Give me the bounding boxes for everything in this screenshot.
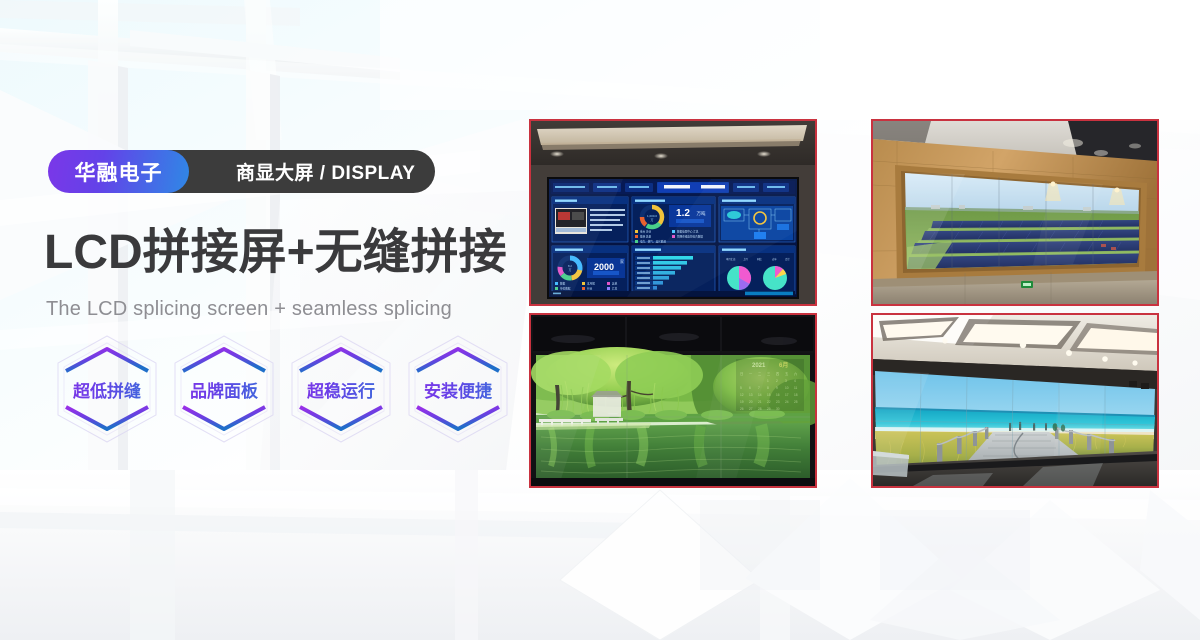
svg-text:合计: 合计 — [785, 257, 790, 261]
feature-badge-label-2: 超稳运行 — [286, 333, 396, 445]
feature-badge-2: 超稳运行 — [286, 333, 396, 445]
beach-boardwalk-video-wall-graphic — [873, 315, 1157, 486]
svg-text:家: 家 — [620, 258, 624, 264]
photo-scene — [873, 121, 1157, 304]
feature-badge-row: 超低拼缝 品牌面板 — [52, 333, 532, 445]
brand-name-pill: 华融电子 — [48, 150, 189, 193]
product-photo-beach-boardwalk-video-wall[interactable] — [871, 313, 1159, 488]
feature-badge-3: 安装便捷 — [403, 333, 513, 445]
svg-text:能耗 总量: 能耗 总量 — [640, 235, 652, 239]
svg-text:其他: 其他 — [612, 282, 618, 286]
svg-text:去年: 去年 — [772, 257, 777, 261]
svg-text:18: 18 — [794, 393, 798, 397]
svg-text:11: 11 — [794, 386, 798, 390]
feature-badge-1: 品牌面板 — [169, 333, 279, 445]
svg-text:25: 25 — [794, 400, 798, 404]
svg-text:29: 29 — [767, 407, 771, 411]
svg-text:23: 23 — [776, 400, 780, 404]
svg-text:10: 10 — [785, 386, 789, 390]
svg-text:24: 24 — [785, 400, 789, 404]
svg-text:1: 1 — [767, 379, 769, 383]
dashboard-video-wall-graphic: 1,000.0 万 1.2 万吨 重点 企业 能耗 总量 电力、燃气、其它能源 … — [531, 121, 815, 304]
svg-text:28: 28 — [758, 407, 762, 411]
photo-scene — [873, 315, 1157, 486]
svg-text:17: 17 — [785, 393, 789, 397]
product-photo-dashboard-video-wall[interactable]: 1,000.0 万 1.2 万吨 重点 企业 能耗 总量 电力、燃气、其它能源 … — [529, 119, 817, 306]
page-title: LCD拼接屏+无缝拼接 — [44, 229, 507, 277]
feature-badge-0: 超低拼缝 — [52, 333, 162, 445]
svg-text:4: 4 — [794, 379, 796, 383]
svg-text:22: 22 — [767, 400, 771, 404]
svg-text:同比: 同比 — [757, 257, 762, 261]
svg-text:9: 9 — [776, 386, 778, 390]
svg-text:21: 21 — [758, 400, 762, 404]
feature-badge-label-0: 超低拼缝 — [52, 333, 162, 445]
page-subtitle: The LCD splicing screen + seamless splic… — [46, 298, 452, 321]
photo-scene: 1,000.0 万 1.2 万吨 重点 企业 能耗 总量 电力、燃气、其它能源 … — [531, 121, 815, 304]
svg-text:16: 16 — [776, 393, 780, 397]
svg-text:2: 2 — [776, 379, 778, 383]
feature-badge-label-3: 安装便捷 — [403, 333, 513, 445]
solar-farm-video-wall-graphic — [873, 121, 1157, 304]
feature-badge-label-1: 品牌面板 — [169, 333, 279, 445]
svg-text:四: 四 — [776, 372, 779, 376]
svg-text:三: 三 — [767, 372, 770, 376]
svg-text:万: 万 — [650, 218, 653, 222]
svg-text:本月报: 本月报 — [587, 282, 595, 286]
product-photo-willow-lake-video-wall[interactable]: 2021 6月 日一二 三四五六 1234 567 891011 121314 … — [529, 313, 817, 488]
svg-text:3: 3 — [785, 379, 787, 383]
svg-text:6月: 6月 — [779, 361, 788, 369]
svg-text:行业: 行业 — [587, 287, 593, 291]
svg-text:8: 8 — [767, 386, 769, 390]
willow-lake-video-wall-graphic: 2021 6月 日一二 三四五六 1234 567 891011 121314 … — [531, 315, 815, 486]
svg-text:2000: 2000 — [594, 262, 614, 272]
svg-text:电力、燃气、其它能源: 电力、燃气、其它能源 — [640, 240, 666, 244]
svg-text:15: 15 — [767, 393, 771, 397]
product-photo-solar-farm-video-wall[interactable] — [871, 119, 1159, 306]
svg-text:重点 企业: 重点 企业 — [640, 230, 652, 234]
svg-text:30: 30 — [776, 407, 780, 411]
svg-text:汇总: 汇总 — [612, 287, 618, 291]
photo-scene: 2021 6月 日一二 三四五六 1234 567 891011 121314 … — [531, 315, 815, 486]
